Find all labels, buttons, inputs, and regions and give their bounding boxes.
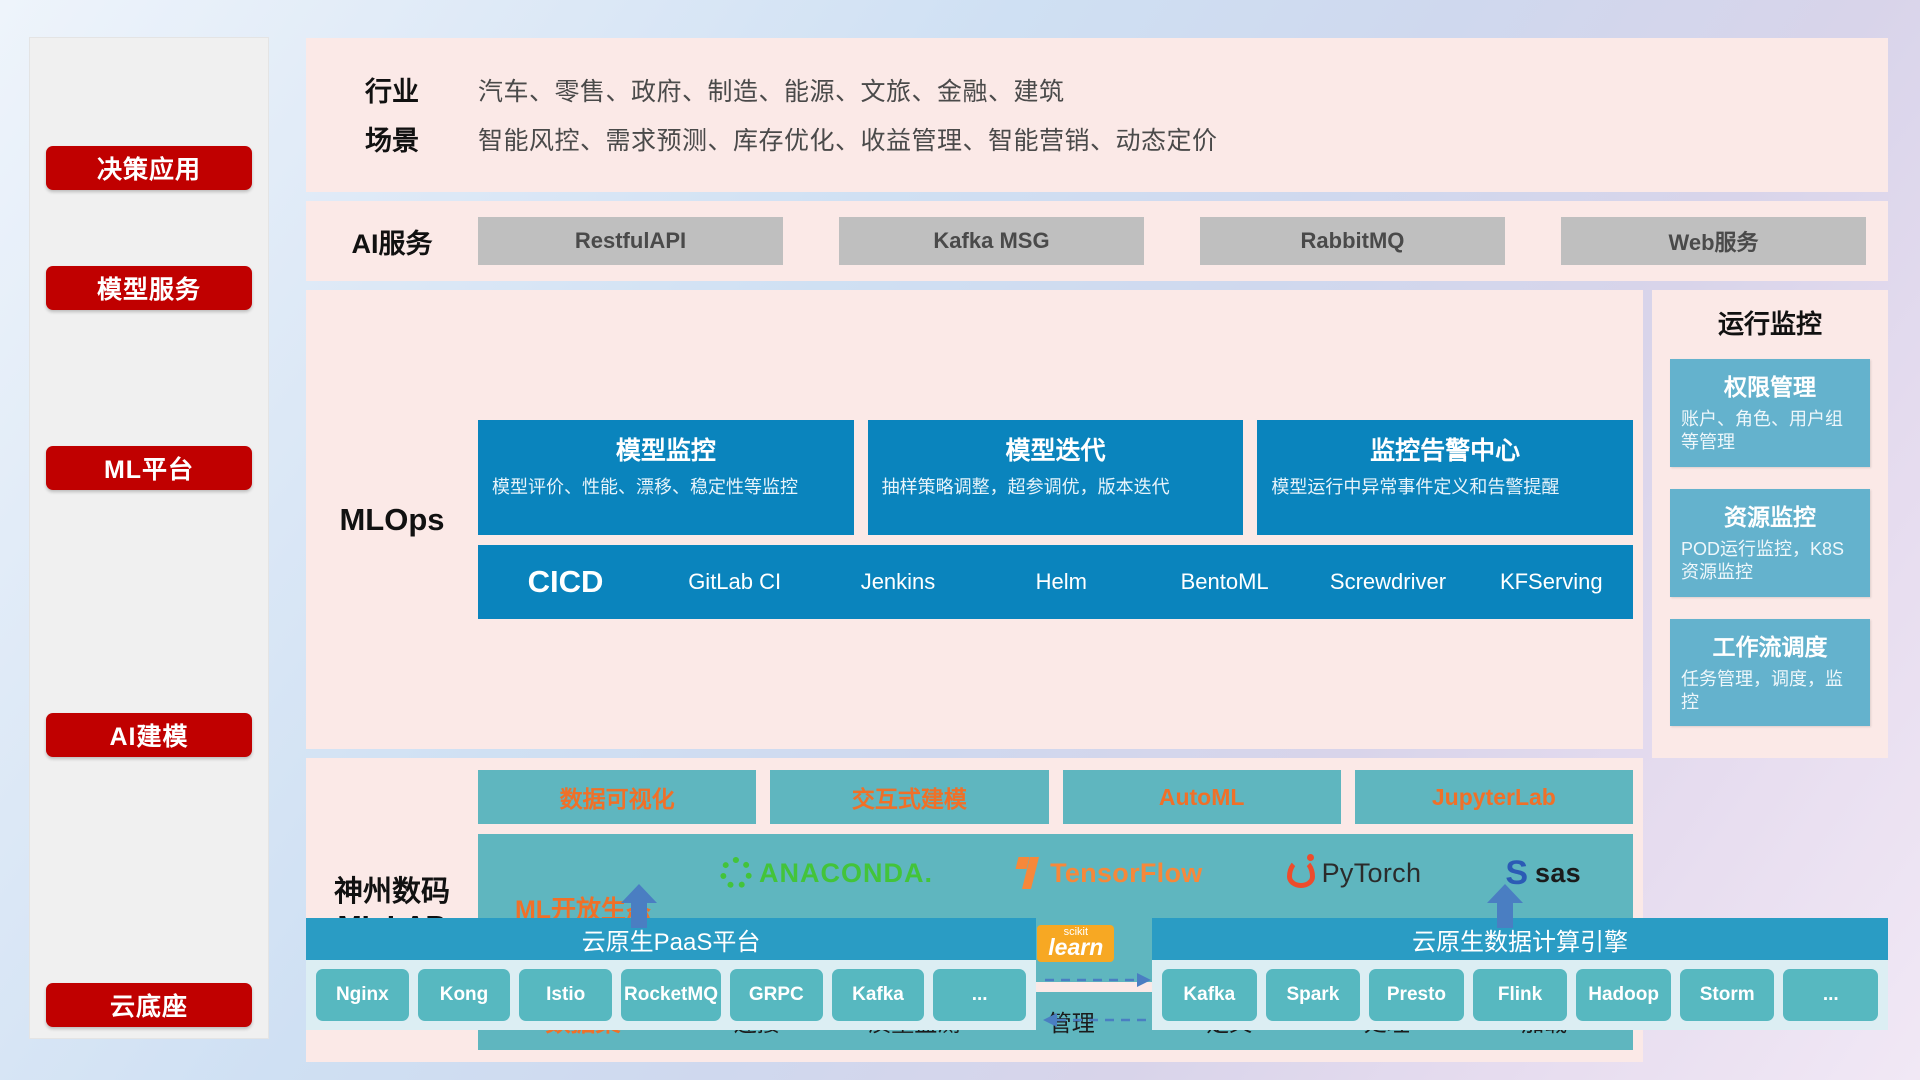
cloud-chip-storm[interactable]: Storm	[1680, 969, 1775, 1021]
cloud-chip-nginx[interactable]: Nginx	[316, 969, 409, 1021]
cloud-chip-grpc[interactable]: GRPC	[730, 969, 823, 1021]
cicd-item-kfserving[interactable]: KFServing	[1470, 568, 1633, 596]
cloud-native-data-engine-group: 云原生数据计算引擎 Kafka Spark Presto Flink Hadoo…	[1152, 918, 1888, 1030]
tool-chip-interactive-modeling[interactable]: 交互式建模	[770, 770, 1048, 824]
card-desc: 任务管理，调度，监控	[1681, 668, 1859, 715]
layer-chip-ai-modeling[interactable]: AI建模	[46, 713, 252, 757]
band-mlops: MLOps 模型监控 模型评价、性能、漂移、稳定性等监控 模型迭代 抽样策略调整…	[306, 290, 1888, 758]
card-desc: POD运行监控，K8S资源监控	[1681, 538, 1859, 585]
cicd-item-gitlab-ci[interactable]: GitLab CI	[653, 568, 816, 596]
cloud-chip-kafka[interactable]: Kafka	[832, 969, 925, 1021]
card-title: 工作流调度	[1681, 628, 1859, 662]
cloud-chip-hadoop[interactable]: Hadoop	[1576, 969, 1671, 1021]
cloud-paas-chip-list: Nginx Kong Istio RocketMQ GRPC Kafka ...	[306, 960, 1036, 1030]
mlops-label: MLOps	[306, 502, 478, 538]
layer-chip-label: 云底座	[110, 987, 188, 1023]
tool-chip-data-visualization[interactable]: 数据可视化	[478, 770, 756, 824]
up-arrow-icon-paas	[616, 882, 662, 928]
mlops-main: MLOps 模型监控 模型评价、性能、漂移、稳定性等监控 模型迭代 抽样策略调整…	[306, 290, 1643, 749]
tool-chip-automl[interactable]: AutoML	[1063, 770, 1341, 824]
layer-chip-decision-apps[interactable]: 决策应用	[46, 146, 252, 190]
pytorch-logo-text: PyTorch	[1322, 858, 1422, 889]
ai-service-label: AI服务	[306, 222, 478, 261]
cloud-chip-flink[interactable]: Flink	[1473, 969, 1568, 1021]
tensorflow-logo-text: TensorFlow	[1050, 858, 1203, 889]
modeling-tool-list: 数据可视化 交互式建模 AutoML JupyterLab	[478, 770, 1633, 824]
ai-service-chip-rabbitmq[interactable]: RabbitMQ	[1200, 217, 1505, 265]
card-title: 权限管理	[1681, 368, 1859, 402]
card-title: 资源监控	[1681, 498, 1859, 532]
cloud-native-paas-group: 云原生PaaS平台 Nginx Kong Istio RocketMQ GRPC…	[306, 918, 1036, 1030]
cloud-chip-more[interactable]: ...	[933, 969, 1026, 1021]
card-title: 模型迭代	[882, 431, 1230, 467]
cicd-item-bentoml[interactable]: BentoML	[1143, 568, 1306, 596]
card-desc: 抽样策略调整，超参调优，版本迭代	[882, 476, 1230, 500]
card-title: 模型监控	[492, 431, 840, 467]
mlops-card-model-monitoring[interactable]: 模型监控 模型评价、性能、漂移、稳定性等监控	[478, 420, 854, 535]
ops-card-resource-monitoring[interactable]: 资源监控 POD运行监控，K8S资源监控	[1670, 489, 1870, 597]
cloud-chip-istio[interactable]: Istio	[519, 969, 612, 1021]
ai-service-chip-web-service[interactable]: Web服务	[1561, 217, 1866, 265]
tensorflow-logo: TensorFlow	[1017, 857, 1203, 889]
layer-chip-cloud-base[interactable]: 云底座	[46, 983, 252, 1027]
band-ai-service: AI服务 RestfulAPI Kafka MSG RabbitMQ Web服务	[306, 201, 1888, 281]
mlops-card-alert-center[interactable]: 监控告警中心 模型运行中异常事件定义和告警提醒	[1257, 420, 1633, 535]
cicd-item-screwdriver[interactable]: Screwdriver	[1306, 568, 1469, 596]
card-desc: 账户、角色、用户组等管理	[1681, 408, 1859, 455]
ops-card-permission-management[interactable]: 权限管理 账户、角色、用户组等管理	[1670, 359, 1870, 467]
cicd-item-jenkins[interactable]: Jenkins	[816, 568, 979, 596]
cicd-title: CICD	[478, 564, 653, 600]
card-desc: 模型运行中异常事件定义和告警提醒	[1271, 476, 1619, 500]
layer-chip-label: AI建模	[109, 717, 188, 753]
cicd-item-helm[interactable]: Helm	[980, 568, 1143, 596]
mlops-card-list: 模型监控 模型评价、性能、漂移、稳定性等监控 模型迭代 抽样策略调整，超参调优，…	[478, 420, 1633, 535]
scenario-label: 场景	[306, 119, 478, 158]
industry-row: 行业 汽车、零售、政府、制造、能源、文旅、金融、建筑	[306, 70, 1888, 109]
band-decision-applications: 行业 汽车、零售、政府、制造、能源、文旅、金融、建筑 场景 智能风控、需求预测、…	[306, 38, 1888, 192]
cicd-bar: CICD GitLab CI Jenkins Helm BentoML Scre…	[478, 545, 1633, 619]
cloud-chip-rocketmq[interactable]: RocketMQ	[621, 969, 721, 1021]
bidirectional-dashed-arrows	[1041, 958, 1153, 1038]
card-desc: 模型评价、性能、漂移、稳定性等监控	[492, 476, 840, 500]
scenario-row: 场景 智能风控、需求预测、库存优化、收益管理、智能营销、动态定价	[306, 119, 1888, 158]
ops-card-workflow-scheduling[interactable]: 工作流调度 任务管理，调度，监控	[1670, 619, 1870, 727]
anaconda-ring-icon	[720, 857, 752, 889]
cloud-data-engine-chip-list: Kafka Spark Presto Flink Hadoop Storm ..…	[1152, 960, 1888, 1030]
mlops-stack: 模型监控 模型评价、性能、漂移、稳定性等监控 模型迭代 抽样策略调整，超参调优，…	[478, 420, 1643, 619]
layer-chip-ml-platform[interactable]: ML平台	[46, 446, 252, 490]
ai-service-chip-restfulapi[interactable]: RestfulAPI	[478, 217, 783, 265]
scenario-value: 智能风控、需求预测、库存优化、收益管理、智能营销、动态定价	[478, 121, 1218, 157]
layer-chip-label: 决策应用	[97, 150, 201, 186]
cloud-base-section: 云原生PaaS平台 Nginx Kong Istio RocketMQ GRPC…	[306, 898, 1888, 1048]
layer-chip-label: ML平台	[104, 450, 194, 486]
up-arrow-icon-data-engine	[1482, 882, 1528, 928]
cloud-chip-presto[interactable]: Presto	[1369, 969, 1464, 1021]
tool-chip-jupyterlab[interactable]: JupyterLab	[1355, 770, 1633, 824]
layer-rail: 决策应用 模型服务 ML平台 AI建模 云底座	[30, 38, 268, 1038]
industry-label: 行业	[306, 70, 478, 109]
cloud-chip-kong[interactable]: Kong	[418, 969, 511, 1021]
tensorflow-mark-icon	[1017, 857, 1043, 889]
cicd-item-list: GitLab CI Jenkins Helm BentoML Screwdriv…	[653, 568, 1633, 596]
ai-service-chip-kafka-msg[interactable]: Kafka MSG	[839, 217, 1144, 265]
mlops-card-model-iteration[interactable]: 模型迭代 抽样策略调整，超参调优，版本迭代	[868, 420, 1244, 535]
layer-chip-model-service[interactable]: 模型服务	[46, 266, 252, 310]
pytorch-flame-icon	[1287, 858, 1315, 888]
pytorch-logo: PyTorch	[1287, 858, 1422, 889]
anaconda-logo-text: ANACONDA.	[759, 858, 933, 889]
industry-value: 汽车、零售、政府、制造、能源、文旅、金融、建筑	[478, 72, 1065, 108]
ops-rail-title: 运行监控	[1670, 304, 1870, 341]
anaconda-logo: ANACONDA.	[720, 857, 933, 889]
cloud-paas-title: 云原生PaaS平台	[306, 918, 1036, 960]
cloud-chip-kafka-data[interactable]: Kafka	[1162, 969, 1257, 1021]
ops-monitoring-rail: 运行监控 权限管理 账户、角色、用户组等管理 资源监控 POD运行监控，K8S资…	[1652, 290, 1888, 758]
ai-service-chip-list: RestfulAPI Kafka MSG RabbitMQ Web服务	[478, 217, 1866, 265]
cloud-chip-spark[interactable]: Spark	[1266, 969, 1361, 1021]
layer-chip-label: 模型服务	[97, 270, 201, 306]
cloud-chip-more-data[interactable]: ...	[1783, 969, 1878, 1021]
sas-logo-text: sas	[1535, 858, 1581, 889]
card-title: 监控告警中心	[1271, 431, 1619, 467]
